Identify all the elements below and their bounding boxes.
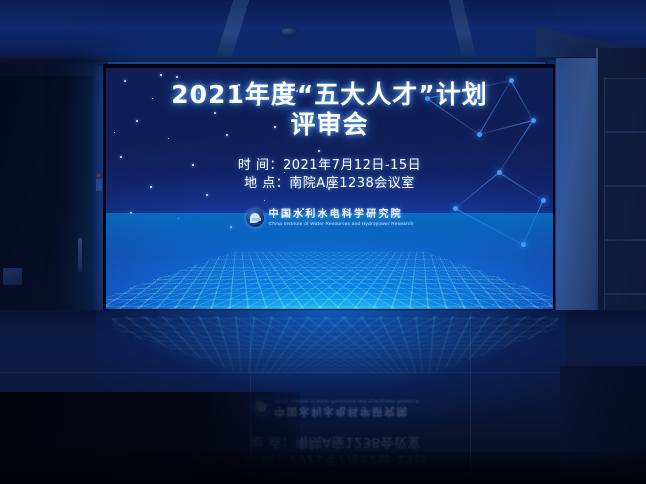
slide-title: 2021年度“五大人才”计划 评审会	[171, 80, 487, 140]
organization-branding: 中国水利水电科学研究院 China Institute of Water Res…	[246, 209, 414, 227]
wall-panel	[604, 186, 646, 240]
organization-names: 中国水利水电科学研究院 China Institute of Water Res…	[269, 210, 414, 227]
wall-switch-panel[interactable]	[96, 179, 102, 191]
conference-room-photo: 2021年度“五大人才”计划 评审会 时 间：2021年7月12日-15日 地 …	[0, 0, 646, 484]
organization-name-cn: 中国水利水电科学研究院	[269, 210, 414, 220]
wall-panel	[604, 78, 646, 132]
slide-meta: 时 间：2021年7月12日-15日 地 点：南院A座1238会议室	[238, 157, 421, 193]
organization-name-en: China Institute of Water Resources and H…	[269, 222, 414, 227]
wall-panel	[604, 240, 646, 294]
ceiling-beam-left	[215, 0, 251, 60]
wall-indicator-led-icon	[97, 174, 100, 177]
slide-content: 2021年度“五大人才”计划 评审会 时 间：2021年7月12日-15日 地 …	[106, 68, 553, 309]
door-handle[interactable]	[78, 238, 82, 272]
slide-title-line1: 2021年度“五大人才”计划	[171, 80, 487, 109]
smoke-detector-icon	[281, 28, 296, 35]
wall-panel	[604, 132, 646, 186]
room-door[interactable]	[0, 76, 94, 338]
floor-seam	[0, 372, 646, 373]
door-sign-plate	[3, 268, 22, 285]
slide-title-line2: 评审会	[171, 110, 487, 140]
institute-emblem-icon	[246, 209, 264, 227]
reflected-honeycomb-grid	[112, 316, 559, 373]
slide-meta-time: 时 间：2021年7月12日-15日	[238, 157, 421, 175]
led-video-wall[interactable]: 2021年度“五大人才”计划 评审会 时 间：2021年7月12日-15日 地 …	[106, 68, 553, 309]
ceiling-beam-right	[447, 0, 476, 60]
slide-meta-place: 地 点：南院A座1238会议室	[238, 175, 421, 193]
foreground-shadow-bottom	[0, 452, 646, 484]
